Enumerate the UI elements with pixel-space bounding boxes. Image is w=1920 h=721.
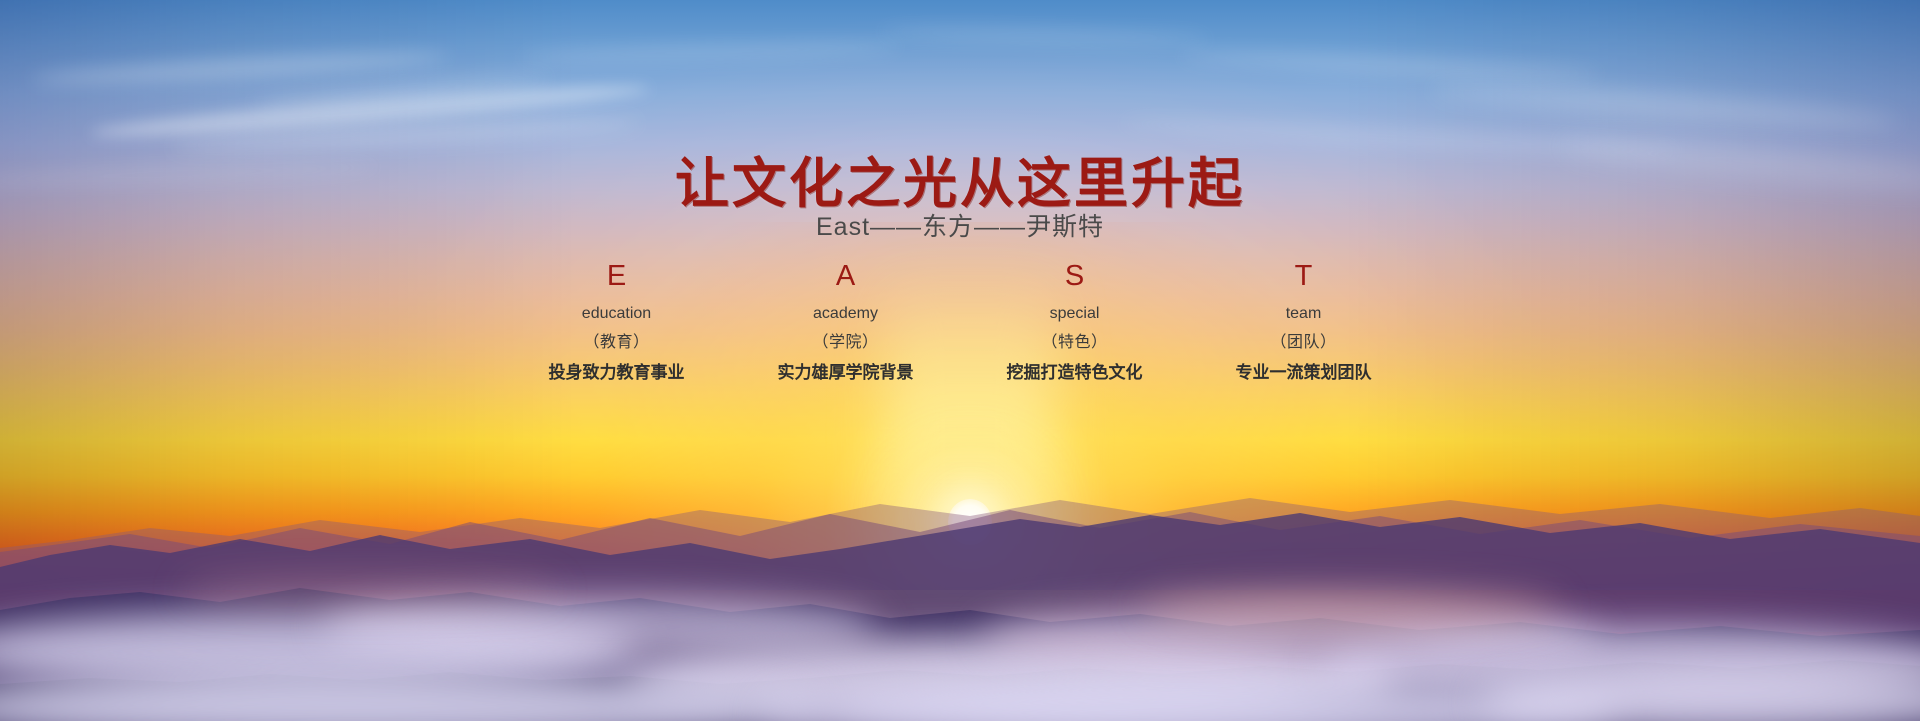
feature-chinese: （教育） xyxy=(583,335,649,351)
hero-banner: 让文化之光从这里升起 East——东方——尹斯特 E education （教育… xyxy=(0,0,1920,721)
feature-english: education xyxy=(582,306,651,322)
feature-description: 专业一流策划团队 xyxy=(1236,364,1372,381)
feature-description: 投身致力教育事业 xyxy=(549,364,685,381)
feature-description: 实力雄厚学院背景 xyxy=(778,364,914,381)
feature-letter: T xyxy=(1295,262,1313,291)
feature-column-special[interactable]: S special （特色） 挖掘打造特色文化 xyxy=(960,262,1189,381)
feature-letter: A xyxy=(836,262,855,291)
page-subtitle: East——东方——尹斯特 xyxy=(0,207,1920,243)
feature-column-academy[interactable]: A academy （学院） 实力雄厚学院背景 xyxy=(731,262,960,381)
feature-description: 挖掘打造特色文化 xyxy=(1007,364,1143,381)
feature-column-education[interactable]: E education （教育） 投身致力教育事业 xyxy=(502,262,731,381)
feature-letter: S xyxy=(1065,262,1084,291)
feature-column-team[interactable]: T team （团队） 专业一流策划团队 xyxy=(1189,262,1418,381)
feature-english: academy xyxy=(813,306,878,322)
feature-chinese: （学院） xyxy=(812,335,878,351)
east-feature-columns: E education （教育） 投身致力教育事业 A academy （学院）… xyxy=(0,262,1920,381)
feature-chinese: （团队） xyxy=(1270,335,1336,351)
feature-english: team xyxy=(1286,306,1322,322)
feature-english: special xyxy=(1050,306,1100,322)
feature-letter: E xyxy=(607,262,626,291)
feature-chinese: （特色） xyxy=(1041,335,1107,351)
banner-content: 让文化之光从这里升起 East——东方——尹斯特 E education （教育… xyxy=(0,0,1920,721)
